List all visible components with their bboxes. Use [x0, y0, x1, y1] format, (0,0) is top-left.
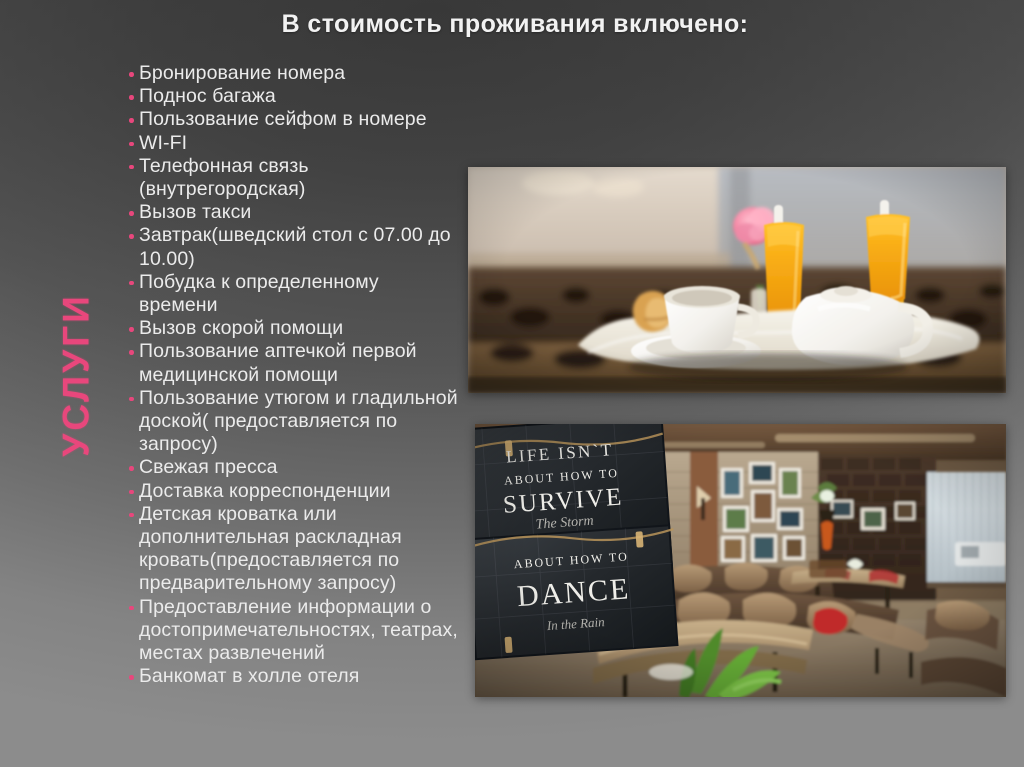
- list-item: Пользование сейфом в номере: [128, 108, 458, 131]
- list-item-label: Доставка корреспонденции: [139, 480, 458, 503]
- list-item: Пользование утюгом и гладильной доской( …: [128, 387, 458, 457]
- list-item-label: Завтрак(шведский стол с 07.00 до 10.00): [139, 224, 458, 270]
- list-item: WI-FI: [128, 132, 458, 155]
- list-item-label: Пользование утюгом и гладильной доской( …: [139, 387, 458, 457]
- bullet-dot-icon: [129, 72, 134, 77]
- list-item: Вызов такси: [128, 201, 458, 224]
- vertical-section-label-text: УСЛУГИ: [56, 293, 98, 456]
- list-item: Детская кроватка или дополнительная раск…: [128, 503, 458, 596]
- bullet-dot-icon: [129, 513, 134, 518]
- bullet-dot-icon: [129, 95, 134, 100]
- list-item: Поднос багажа: [128, 85, 458, 108]
- list-item-label: Поднос багажа: [139, 85, 458, 108]
- bullet-dot-icon: [129, 466, 134, 471]
- vertical-section-label: УСЛУГИ: [42, 240, 112, 510]
- list-item: Побудка к определенному времени: [128, 271, 458, 317]
- list-item: Предоставление информации о достопримеча…: [128, 596, 458, 666]
- bullet-dot-icon: [129, 327, 134, 332]
- list-item: Свежая пресса: [128, 456, 458, 479]
- page-title: В стоимость проживания включено:: [120, 10, 910, 39]
- bullet-dot-icon: [129, 165, 134, 170]
- bullet-dot-icon: [129, 350, 134, 355]
- list-item: Доставка корреспонденции: [128, 480, 458, 503]
- list-item-label: Вызов такси: [139, 201, 458, 224]
- breakfast-photo: [468, 167, 1006, 393]
- bullet-dot-icon: [129, 142, 134, 147]
- list-item-label: Телефонная связь (внутрегородская): [139, 155, 458, 201]
- bullet-dot-icon: [129, 675, 134, 680]
- list-item: Завтрак(шведский стол с 07.00 до 10.00): [128, 224, 458, 270]
- list-item-label: Свежая пресса: [139, 456, 458, 479]
- services-bullet-list: Бронирование номераПоднос багажаПользова…: [128, 62, 458, 688]
- list-item: Банкомат в холле отеля: [128, 665, 458, 688]
- lounge-photo: LIFE ISN`T ABOUT HOW TO SURVIVE The Stor…: [475, 424, 1006, 697]
- lounge-photo-graphic: LIFE ISN`T ABOUT HOW TO SURVIVE The Stor…: [475, 424, 1006, 697]
- list-item-label: Предоставление информации о достопримеча…: [139, 596, 458, 666]
- list-item: Бронирование номера: [128, 62, 458, 85]
- slide-canvas: В стоимость проживания включено: УСЛУГИ …: [0, 0, 1024, 767]
- list-item-label: Детская кроватка или дополнительная раск…: [139, 503, 458, 596]
- list-item-label: Пользование аптечкой первой медицинской …: [139, 340, 458, 386]
- list-item-label: Бронирование номера: [139, 62, 458, 85]
- bullet-dot-icon: [129, 490, 134, 495]
- list-item: Вызов скорой помощи: [128, 317, 458, 340]
- bullet-dot-icon: [129, 606, 134, 611]
- list-item-label: Пользование сейфом в номере: [139, 108, 458, 131]
- bullet-dot-icon: [129, 281, 134, 286]
- bullet-dot-icon: [129, 234, 134, 239]
- list-item: Пользование аптечкой первой медицинской …: [128, 340, 458, 386]
- list-item-label: Побудка к определенному времени: [139, 271, 458, 317]
- bullet-dot-icon: [129, 118, 134, 123]
- breakfast-photo-graphic: [468, 167, 1006, 393]
- list-item-label: Банкомат в холле отеля: [139, 665, 458, 688]
- bullet-dot-icon: [129, 397, 134, 402]
- list-item-label: Вызов скорой помощи: [139, 317, 458, 340]
- list-item: Телефонная связь (внутрегородская): [128, 155, 458, 201]
- list-item-label: WI-FI: [139, 132, 458, 155]
- bullet-dot-icon: [129, 211, 134, 216]
